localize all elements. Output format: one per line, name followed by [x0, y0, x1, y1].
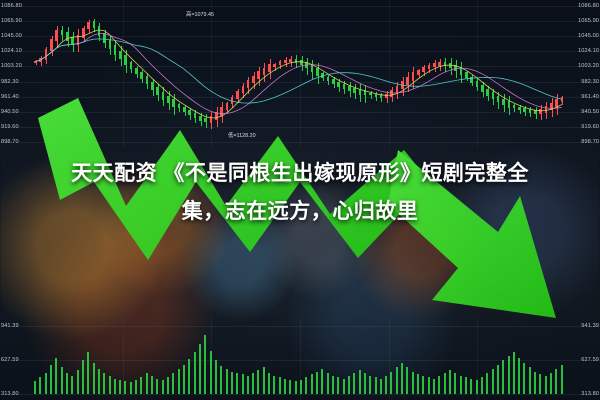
headline-line-1: 天天配资 《不是同根生出嫁现原形》短剧完整全	[0, 155, 600, 193]
screenshot-root: 1086.801086.801065.901065.901045.001045.…	[0, 0, 600, 400]
headline-line-2: 集，志在远方，心归故里	[0, 193, 600, 231]
headline-text: 天天配资 《不是同根生出嫁现原形》短剧完整全 集，志在远方，心归故里	[0, 155, 600, 231]
